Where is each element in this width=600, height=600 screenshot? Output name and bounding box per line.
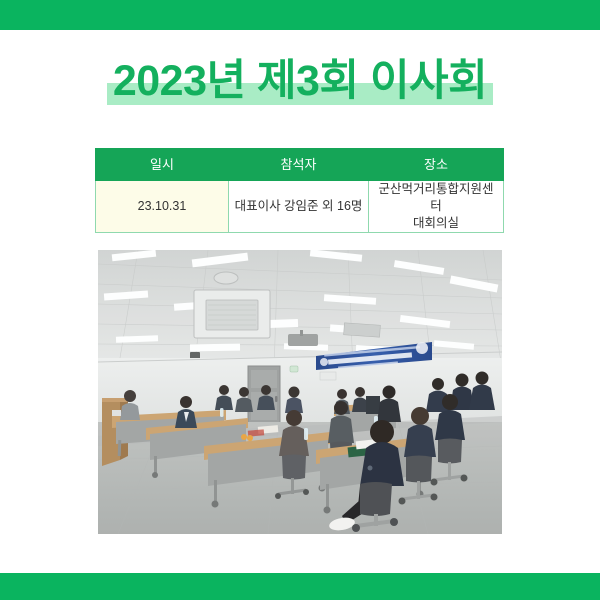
cell-date: 23.10.31 <box>96 181 229 233</box>
table-header-row: 일시 참석자 장소 <box>96 149 504 181</box>
column-header-place: 장소 <box>369 149 504 181</box>
top-green-bar <box>0 0 600 30</box>
column-header-attendees: 참석자 <box>229 149 369 181</box>
title-inner: 2023년 제3회 이사회 <box>111 60 489 103</box>
meeting-info-table: 일시 참석자 장소 23.10.31 대표이사 강임준 외 16명 군산먹거리통… <box>95 148 504 233</box>
cell-place-line2: 대회의실 <box>413 216 459 230</box>
bottom-green-bar <box>0 573 600 600</box>
title-text: 2023년 제3회 이사회 <box>111 60 489 103</box>
cell-attendees: 대표이사 강임준 외 16명 <box>229 181 369 233</box>
cell-place: 군산먹거리통합지원센터 대회의실 <box>369 181 504 233</box>
column-header-date: 일시 <box>96 149 229 181</box>
table-row: 23.10.31 대표이사 강임준 외 16명 군산먹거리통합지원센터 대회의실 <box>96 181 504 233</box>
poster-canvas: 2023년 제3회 이사회 일시 참석자 장소 23.10.31 대표이사 강임… <box>0 0 600 600</box>
page-title: 2023년 제3회 이사회 <box>0 60 600 120</box>
meeting-photo <box>98 250 502 534</box>
meeting-photo-illustration <box>98 250 502 534</box>
cell-place-line1: 군산먹거리통합지원센터 <box>378 182 493 213</box>
